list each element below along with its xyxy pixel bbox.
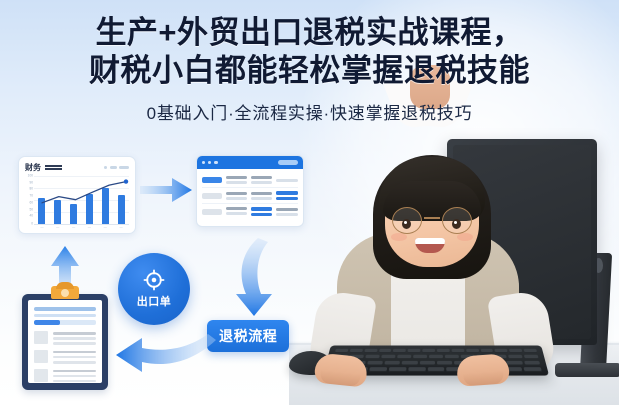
clipboard-document [22, 286, 108, 390]
refund-process-pill[interactable]: 退税流程 [207, 320, 289, 352]
doc-line [34, 307, 96, 311]
clipboard-board [22, 294, 108, 390]
list-item [34, 331, 96, 345]
clipboard-clip-icon [51, 286, 79, 299]
url-pill-icon [278, 160, 298, 165]
window-dot-icon [202, 161, 205, 164]
window-dot-icon [214, 161, 217, 164]
doc-line [34, 314, 96, 318]
headline-block: 生产+外贸出口退税实战课程， 财税小白都能轻松掌握退税技能 0基础入门·全流程实… [0, 14, 619, 124]
clipboard-paper [28, 300, 102, 383]
table-row [202, 188, 298, 204]
thumb-box [34, 331, 48, 344]
glasses-bridge [424, 217, 440, 219]
title-line-2: 财税小白都能轻松掌握退税技能 [0, 52, 619, 90]
finance-chart-card: 财务 1009080 706050 400 [18, 156, 136, 234]
doc-progress-bar [34, 320, 96, 325]
thumb-box [34, 350, 48, 363]
arrow-right-chart-to-browser [138, 173, 194, 207]
arrow-left-process-to-clipboard [112, 334, 218, 380]
glasses-icon [383, 205, 481, 235]
browser-titlebar [197, 156, 303, 169]
chart-card-title: 财务 [25, 164, 41, 172]
target-gear-icon [143, 269, 165, 291]
title-line-1: 生产+外贸出口退税实战课程， [0, 14, 619, 52]
monitor-base [555, 363, 619, 377]
hamburger-icon [45, 165, 62, 169]
badge-label: 出口单 [137, 293, 172, 309]
list-item [34, 369, 96, 383]
chart-x-axis: —————— [34, 225, 129, 229]
eye-right [452, 219, 461, 229]
browser-content [197, 169, 303, 223]
chart-card-header: 财务 [25, 162, 129, 173]
status-dots [104, 166, 129, 169]
browser-window-card [196, 155, 304, 227]
table-row [202, 204, 298, 219]
window-dot-icon [208, 161, 211, 164]
poster-canvas: 生产+外贸出口退税实战课程， 财税小白都能轻松掌握退税技能 0基础入门·全流程实… [0, 0, 619, 405]
hand-right [456, 353, 510, 387]
arrow-down-browser-to-process [228, 236, 288, 322]
subtitle: 0基础入门·全流程实操·快速掌握退税技巧 [0, 99, 619, 124]
chart-y-axis: 1009080 706050 400 [25, 176, 34, 224]
process-illustration: 财务 1009080 706050 400 [0, 140, 330, 405]
export-document-badge[interactable]: 出口单 [118, 253, 190, 325]
table-row [202, 173, 298, 188]
chart-plot: 1009080 706050 400 [25, 176, 129, 232]
list-item [34, 350, 96, 364]
eye-left [402, 219, 411, 229]
chart-trend-line [34, 176, 134, 224]
thumb-box [34, 369, 48, 382]
